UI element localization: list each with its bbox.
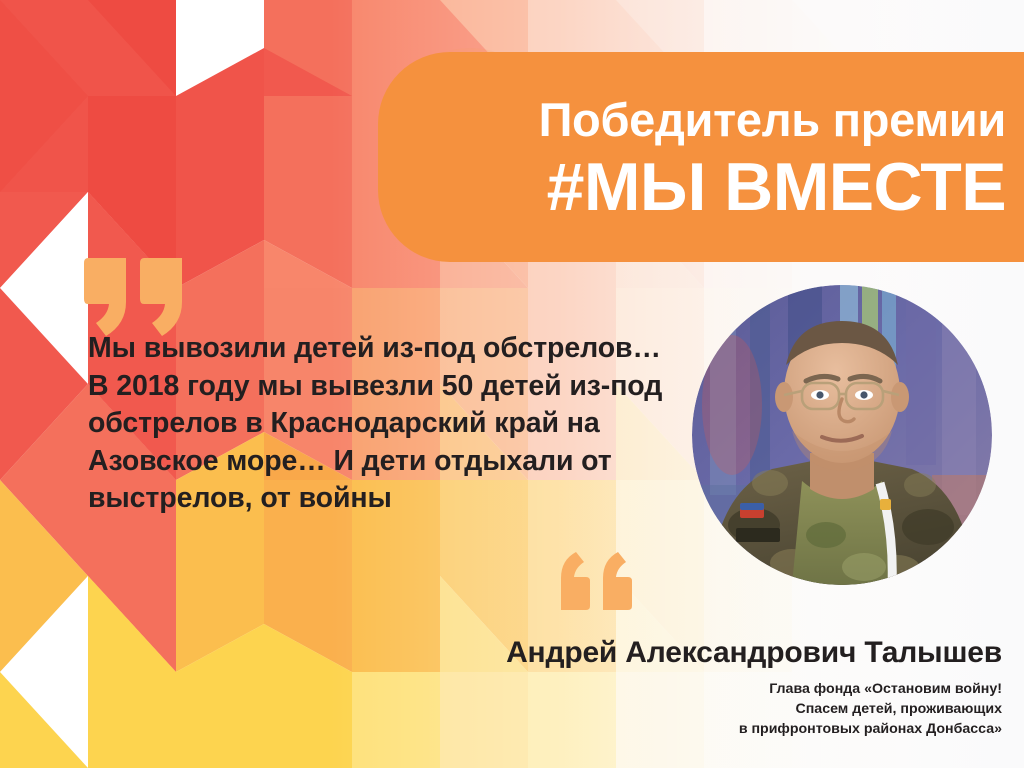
portrait-photo bbox=[692, 285, 992, 585]
award-banner: Победитель премии #МЫ ВМЕСТЕ bbox=[378, 52, 1024, 262]
quote-mark-open-icon bbox=[84, 258, 194, 336]
poster-canvas: Победитель премии #МЫ ВМЕСТЕ Мы вывозили… bbox=[0, 0, 1024, 768]
quote-text: Мы вывозили детей из-под обстрелов… В 20… bbox=[88, 330, 668, 518]
person-name: Андрей Александрович Талышев bbox=[506, 636, 1002, 670]
quote-mark-close-icon bbox=[558, 550, 640, 610]
person-role-line2: Спасем детей, проживающих bbox=[739, 699, 1002, 719]
banner-title-line1: Победитель премии bbox=[539, 96, 1006, 143]
bg-band-0 bbox=[0, 0, 88, 768]
person-role-line3: в прифронтовых районах Донбасса» bbox=[739, 719, 1002, 739]
person-role: Глава фонда «Остановим войну! Спасем дет… bbox=[739, 679, 1002, 739]
person-role-line1: Глава фонда «Остановим войну! bbox=[739, 679, 1002, 699]
banner-title-line2: #МЫ ВМЕСТЕ bbox=[547, 153, 1006, 221]
